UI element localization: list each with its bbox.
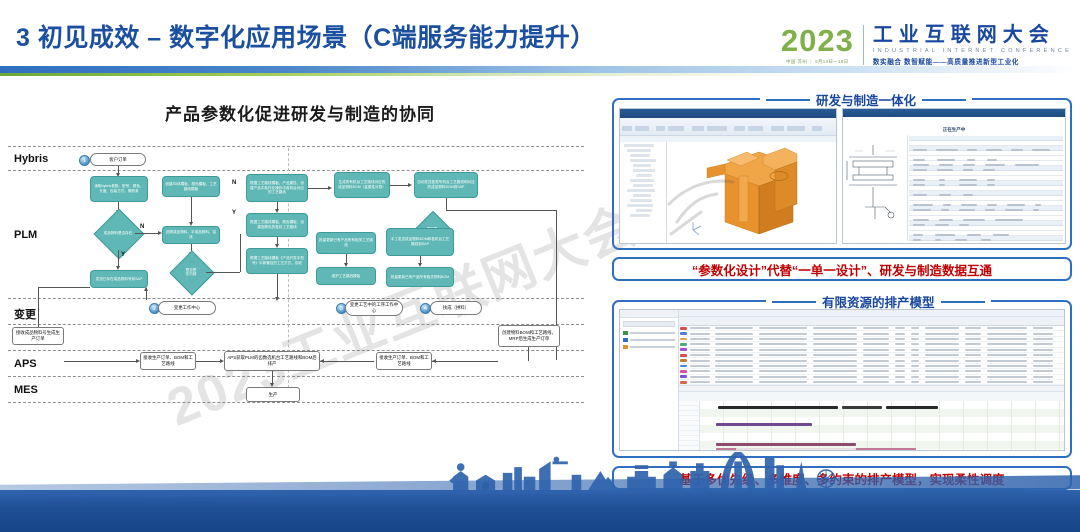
lane-label-hybris: Hybris <box>14 153 48 165</box>
heading-rule-right <box>922 99 966 101</box>
form-fields-pane[interactable] <box>909 135 1063 241</box>
arrow-up-icon <box>144 287 148 291</box>
cad-ribbon-toolbar[interactable] <box>620 118 836 136</box>
edge <box>64 361 138 362</box>
logo-text-block: 工业互联网大会 INDUSTRIAL INTERNET CONFERENCE 数… <box>873 25 1072 66</box>
edge <box>38 287 39 327</box>
flow-node-create-bom-routing-mrp[interactable]: 创建物料BOM和工艺路线，MRP后生成生产订单 <box>498 325 560 347</box>
flow-title: 产品参数化促进研发与制造的协同 <box>0 100 600 125</box>
page-header: 3 初见成效 – 数字化应用场景（C端服务能力提升） 2023 中国·苏州 ｜ … <box>0 0 1080 82</box>
edge <box>432 361 498 362</box>
edge-label-y: Y <box>121 252 125 258</box>
edge <box>528 347 529 361</box>
conference-logo: 2023 中国·苏州 ｜ 9月14日—16日 工业互联网大会 INDUSTRIA… <box>781 22 1072 68</box>
flow-node-create-color-routing[interactable]: 根据工艺路线模板、颜色模板，创建各颜色的各处工艺路线 <box>246 213 308 237</box>
badge-1: 1 <box>79 155 90 166</box>
edge-label-y2: Y <box>232 210 236 216</box>
edge <box>206 272 240 273</box>
flow-node-receive-material-create-order[interactable]: 接收成品物料号生成生产订单 <box>12 327 64 345</box>
edge <box>191 197 192 223</box>
flow-node-change-op-work-center[interactable]: 变更工艺中的工序工作中心 <box>345 300 403 316</box>
order-grid-header[interactable] <box>679 317 1064 326</box>
logo-year-block: 2023 中国·苏州 ｜ 9月14日—16日 <box>781 25 863 65</box>
heading-rule-left <box>766 99 810 101</box>
heading-rule-left <box>772 301 816 303</box>
flow-node-change-work-center[interactable]: 变更工作中心 <box>158 301 216 315</box>
gantt-tab-strip[interactable] <box>679 385 1064 392</box>
logo-year-subtitle: 中国·苏州 ｜ 9月14日—16日 <box>786 59 848 65</box>
arrow-right-icon <box>220 359 224 363</box>
flow-node-create-machine-routing[interactable]: 根据工艺路线模板、产品属性，创建产品中各作业操作中各机台对应的工艺路线 <box>246 174 308 202</box>
technical-drawing <box>845 135 905 235</box>
edge <box>320 361 374 362</box>
order-grid[interactable] <box>679 326 1064 385</box>
lane-label-change: 变更 <box>14 306 36 322</box>
flow-decision-internal-label: 是否是在内部 <box>176 257 206 287</box>
form-titlebar <box>843 109 1065 117</box>
process-flow-diagram: 产品参数化促进研发与制造的协同 Hybris PLM 变更 SAP APS ME… <box>0 84 600 464</box>
edge-label-n: N <box>140 224 144 230</box>
lane-separator <box>8 170 584 171</box>
aluminium-profile-3d-model <box>667 142 837 244</box>
flow-node-aps-schedule[interactable]: APS获取PLM的齿数选机台工艺路线和BOM后排产 <box>224 351 320 371</box>
flow-node-auto-send-to-sap[interactable]: 自动发送各型号机台工艺路线和对应的成品物料BOM到SAP <box>414 172 478 198</box>
arrow-right-icon <box>136 359 140 363</box>
heading-rule-right <box>941 301 985 303</box>
flow-node-merge-material[interactable]: 扶成（拼料） <box>430 301 482 315</box>
panel-rd-mfg-heading: 研发与制造一体化 <box>760 90 972 109</box>
lane-separator <box>8 324 584 325</box>
logo-chinese-title: 工业互联网大会 <box>873 25 1072 46</box>
flow-node-batch-update-boms[interactable]: 批量更新已有产品所有相关物料BOM <box>386 267 454 287</box>
flow-node-create-templates[interactable]: 创建3D体模板、颜色模板、工艺路线模板 <box>162 176 220 197</box>
edge <box>277 274 278 298</box>
footer-blue-band <box>0 490 1080 532</box>
cad-3d-model-window[interactable] <box>619 108 837 244</box>
edge <box>196 361 222 362</box>
gantt-grid[interactable] <box>700 401 1064 451</box>
scheduler-main[interactable] <box>679 310 1064 450</box>
flow-node-customer-order[interactable]: 客户订单 <box>90 153 146 166</box>
page-title: 3 初见成效 – 数字化应用场景（C端服务能力提升） <box>16 18 596 54</box>
form-drawing-pane[interactable] <box>845 135 908 241</box>
edge-label-n2: N <box>232 180 236 186</box>
lane-label-plm: PLM <box>14 229 37 241</box>
flow-node-manual-send-bom[interactable]: 手工发送成品物料BOM和各机台工艺路线到SAP <box>386 228 454 256</box>
logo-english-title: INDUSTRIAL INTERNET CONFERENCE <box>873 48 1072 54</box>
edge <box>38 287 90 288</box>
arrow-down-icon <box>275 297 279 301</box>
flow-node-receive-order-bom-routing-2[interactable]: 接收生产订单、BOM和工艺路线 <box>376 352 432 370</box>
scheduler-left-nav[interactable] <box>620 310 679 450</box>
header-rule-green <box>0 73 1080 76</box>
lane-separator <box>8 146 584 147</box>
flow-decision-material-exists-label: 成品物料是否存在 <box>101 216 135 250</box>
gantt-chart[interactable] <box>679 392 1064 451</box>
edge <box>118 250 119 267</box>
form-body[interactable]: 正在生产中 <box>843 117 1065 243</box>
edge <box>308 188 330 189</box>
edge <box>446 198 447 210</box>
lane-label-mes: MES <box>14 384 38 396</box>
logo-divider <box>863 25 864 65</box>
flow-node-trace-materials[interactable]: 回溯成品物料、半成品物料、铝坯 <box>162 226 220 244</box>
edge <box>240 234 241 272</box>
page-footer <box>0 452 1080 532</box>
arrow-right-icon <box>408 183 412 187</box>
cad-model-tree[interactable] <box>620 142 667 243</box>
logo-year: 2023 <box>781 25 854 56</box>
flow-node-receive-order-bom-routing-1[interactable]: 接收生产订单、BOM和工艺路线 <box>140 352 196 370</box>
cad-3d-viewport[interactable] <box>667 142 836 243</box>
lane-separator <box>8 402 584 403</box>
arrow-left-icon <box>320 359 324 363</box>
cad-titlebar <box>620 109 836 118</box>
aps-scheduling-gantt-window[interactable] <box>619 309 1065 451</box>
flow-node-routing-template-product-dev[interactable]: 根据工艺路线模板《产品开发中型号》中新管控的工艺方式、铝坯 <box>246 248 308 274</box>
lane-separator <box>8 298 584 299</box>
logo-chinese-subtitle: 数实融合 数智赋能——高质量推进新型工业化 <box>873 56 1072 66</box>
flow-node-send-existing-material-to-sap[interactable]: 发送已存在成品物料号到SAP <box>90 270 148 288</box>
flow-node-read-hybris-params[interactable]: 读取hybris参数：型号、颜色、长度、包装方式、隔热条 <box>90 176 148 202</box>
arrow-right-icon <box>328 186 332 190</box>
flow-node-batch-update-routings[interactable]: 批量更新已有产品所有相关工艺路线 <box>316 232 376 254</box>
panel-rd-mfg-caption: “参数化设计”代替“一单一设计”、研发与制造数据互通 <box>612 257 1072 281</box>
form-title: 正在生产中 <box>943 127 966 133</box>
edge <box>446 210 556 211</box>
lane-separator <box>8 376 584 377</box>
flow-node-production[interactable]: 生产 <box>246 387 300 402</box>
panel-rd-mfg-heading-text: 研发与制造一体化 <box>816 90 916 109</box>
lane-label-aps: APS <box>14 358 37 370</box>
arrow-left-icon <box>432 359 436 363</box>
flow-node-maintain-routing-template[interactable]: 维护工艺路线模板 <box>316 267 376 285</box>
edge <box>390 185 410 186</box>
product-detail-form-window[interactable]: 正在生产中 <box>842 108 1066 244</box>
gantt-resource-column[interactable] <box>679 401 700 451</box>
flow-node-generate-bom[interactable]: 生成所有机台工艺路线对应的成品物料BOM（金属性计算） <box>334 172 390 198</box>
edge <box>135 233 160 234</box>
